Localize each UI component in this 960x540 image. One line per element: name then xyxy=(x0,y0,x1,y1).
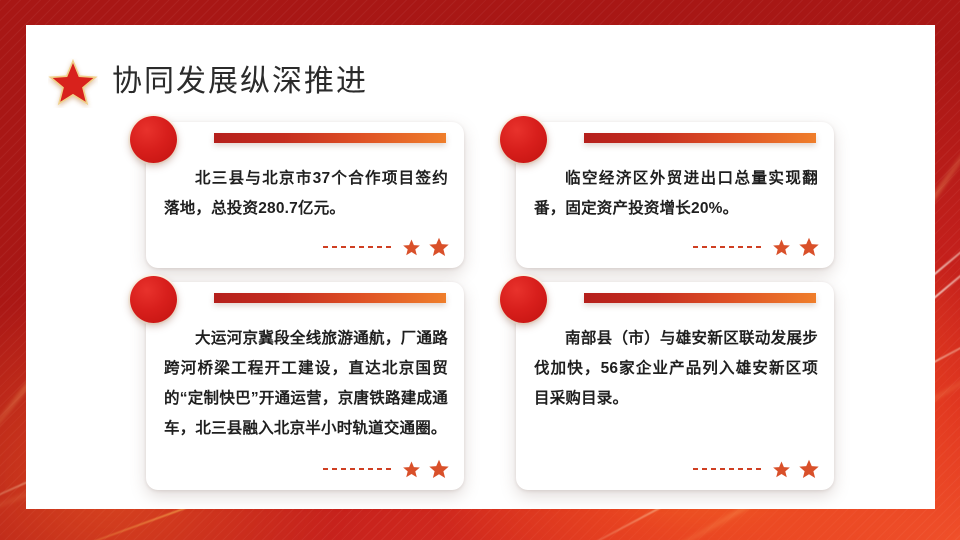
card-accent-bar xyxy=(584,293,816,303)
star-icon xyxy=(402,460,421,479)
card-accent-bar xyxy=(214,293,446,303)
star-icon xyxy=(772,460,791,479)
dashed-line-icon xyxy=(323,468,395,470)
star-icon xyxy=(428,236,450,258)
dashed-line-icon xyxy=(693,246,765,248)
info-card[interactable]: 南部县（市）与雄安新区联动发展步伐加快，56家企业产品列入雄安新区项目采购目录。 xyxy=(516,282,834,490)
card-footer-decoration xyxy=(693,236,820,258)
dashed-line-icon xyxy=(323,246,395,248)
card-footer-decoration xyxy=(693,458,820,480)
card-text: 南部县（市）与雄安新区联动发展步伐加快，56家企业产品列入雄安新区项目采购目录。 xyxy=(534,324,818,414)
card-accent-bar xyxy=(584,133,816,143)
info-card[interactable]: 北三县与北京市37个合作项目签约落地，总投资280.7亿元。 xyxy=(146,122,464,268)
page-title: 协同发展纵深推进 xyxy=(48,58,368,108)
star-icon xyxy=(402,238,421,257)
star-icon xyxy=(772,238,791,257)
red-circle-icon xyxy=(130,276,177,323)
page-title-text: 协同发展纵深推进 xyxy=(112,67,368,100)
card-footer-decoration xyxy=(323,458,450,480)
info-card[interactable]: 临空经济区外贸进出口总量实现翻番，固定资产投资增长20%。 xyxy=(516,122,834,268)
red-circle-icon xyxy=(130,116,177,163)
red-circle-icon xyxy=(500,116,547,163)
card-footer-decoration xyxy=(323,236,450,258)
red-star-icon xyxy=(48,58,98,108)
dashed-line-icon xyxy=(693,468,765,470)
star-icon xyxy=(798,236,820,258)
slide-canvas: 协同发展纵深推进 北三县与北京市37个合作项目签约落地，总投资280.7亿元。 … xyxy=(0,0,960,540)
red-circle-icon xyxy=(500,276,547,323)
card-text: 大运河京冀段全线旅游通航，厂通路跨河桥梁工程开工建设，直达北京国贸的“定制快巴”… xyxy=(164,324,448,444)
star-icon xyxy=(428,458,450,480)
card-accent-bar xyxy=(214,133,446,143)
card-text: 北三县与北京市37个合作项目签约落地，总投资280.7亿元。 xyxy=(164,164,448,224)
card-text: 临空经济区外贸进出口总量实现翻番，固定资产投资增长20%。 xyxy=(534,164,818,224)
star-icon xyxy=(798,458,820,480)
info-card[interactable]: 大运河京冀段全线旅游通航，厂通路跨河桥梁工程开工建设，直达北京国贸的“定制快巴”… xyxy=(146,282,464,490)
